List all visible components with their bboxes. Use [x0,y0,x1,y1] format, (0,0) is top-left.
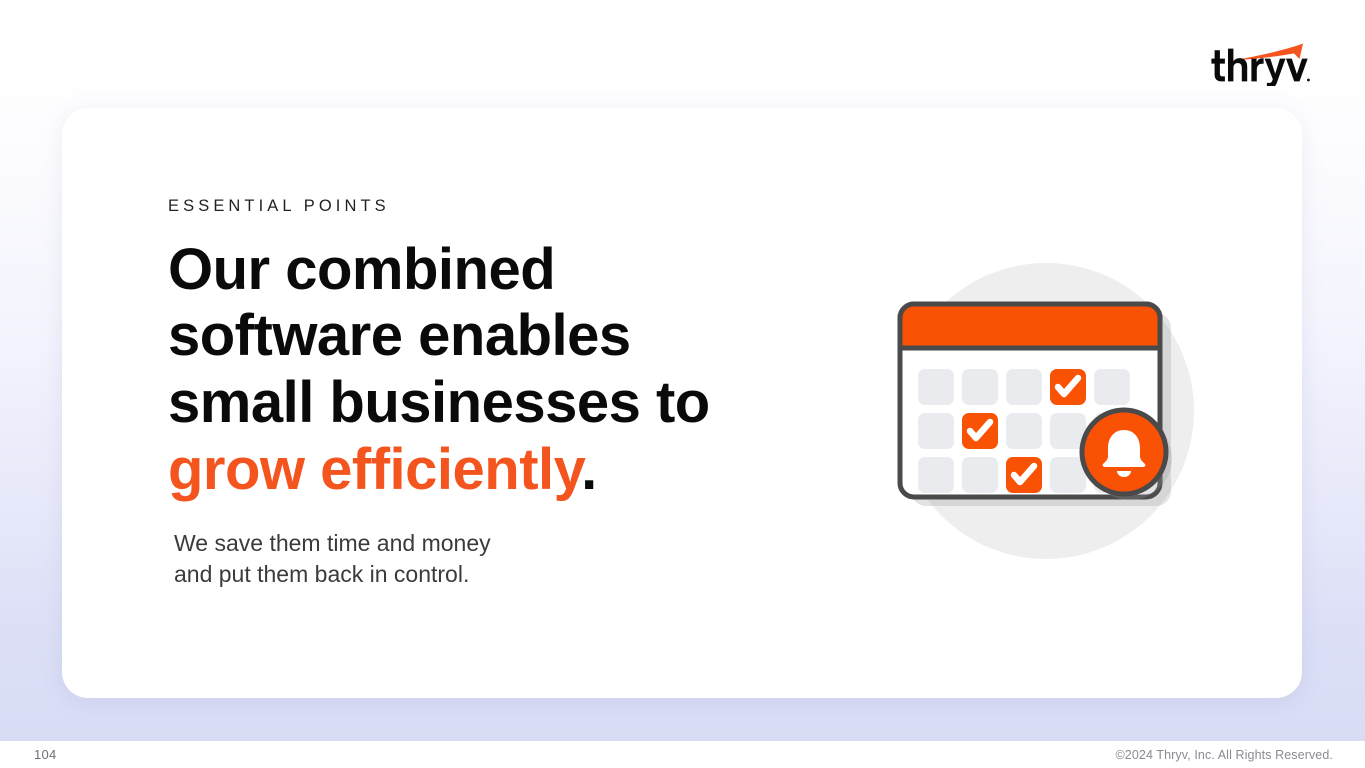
page-number: 104 [34,747,57,762]
slide: ESSENTIAL POINTS Our combined software e… [0,0,1365,768]
headline-accent-text: grow efficiently [168,437,581,502]
subtitle-line-2: and put them back in control. [174,559,788,589]
calendar-illustration [878,248,1218,578]
headline-line-3: small businesses to [168,370,788,437]
page-title: Our combined software enables small busi… [168,237,788,505]
subtitle-line-1: We save them time and money [174,528,788,558]
headline-period: . [581,437,597,502]
thryv-logo [1206,42,1316,86]
content-card: ESSENTIAL POINTS Our combined software e… [62,108,1302,698]
calendar-check-cell [1050,369,1086,405]
headline-line-1: Our combined [168,237,788,304]
calendar-header-bar [900,304,1160,348]
subtitle-text: We save them time and money and put them… [174,528,788,588]
copyright-text: ©2024 Thryv, Inc. All Rights Reserved. [1115,748,1333,762]
calendar-check-cell [962,413,998,449]
eyebrow-label: ESSENTIAL POINTS [168,198,788,215]
headline-line-4: grow efficiently. [168,437,788,504]
headline-line-2: software enables [168,303,788,370]
text-column: ESSENTIAL POINTS Our combined software e… [168,198,788,589]
calendar-check-cell [1006,457,1042,493]
